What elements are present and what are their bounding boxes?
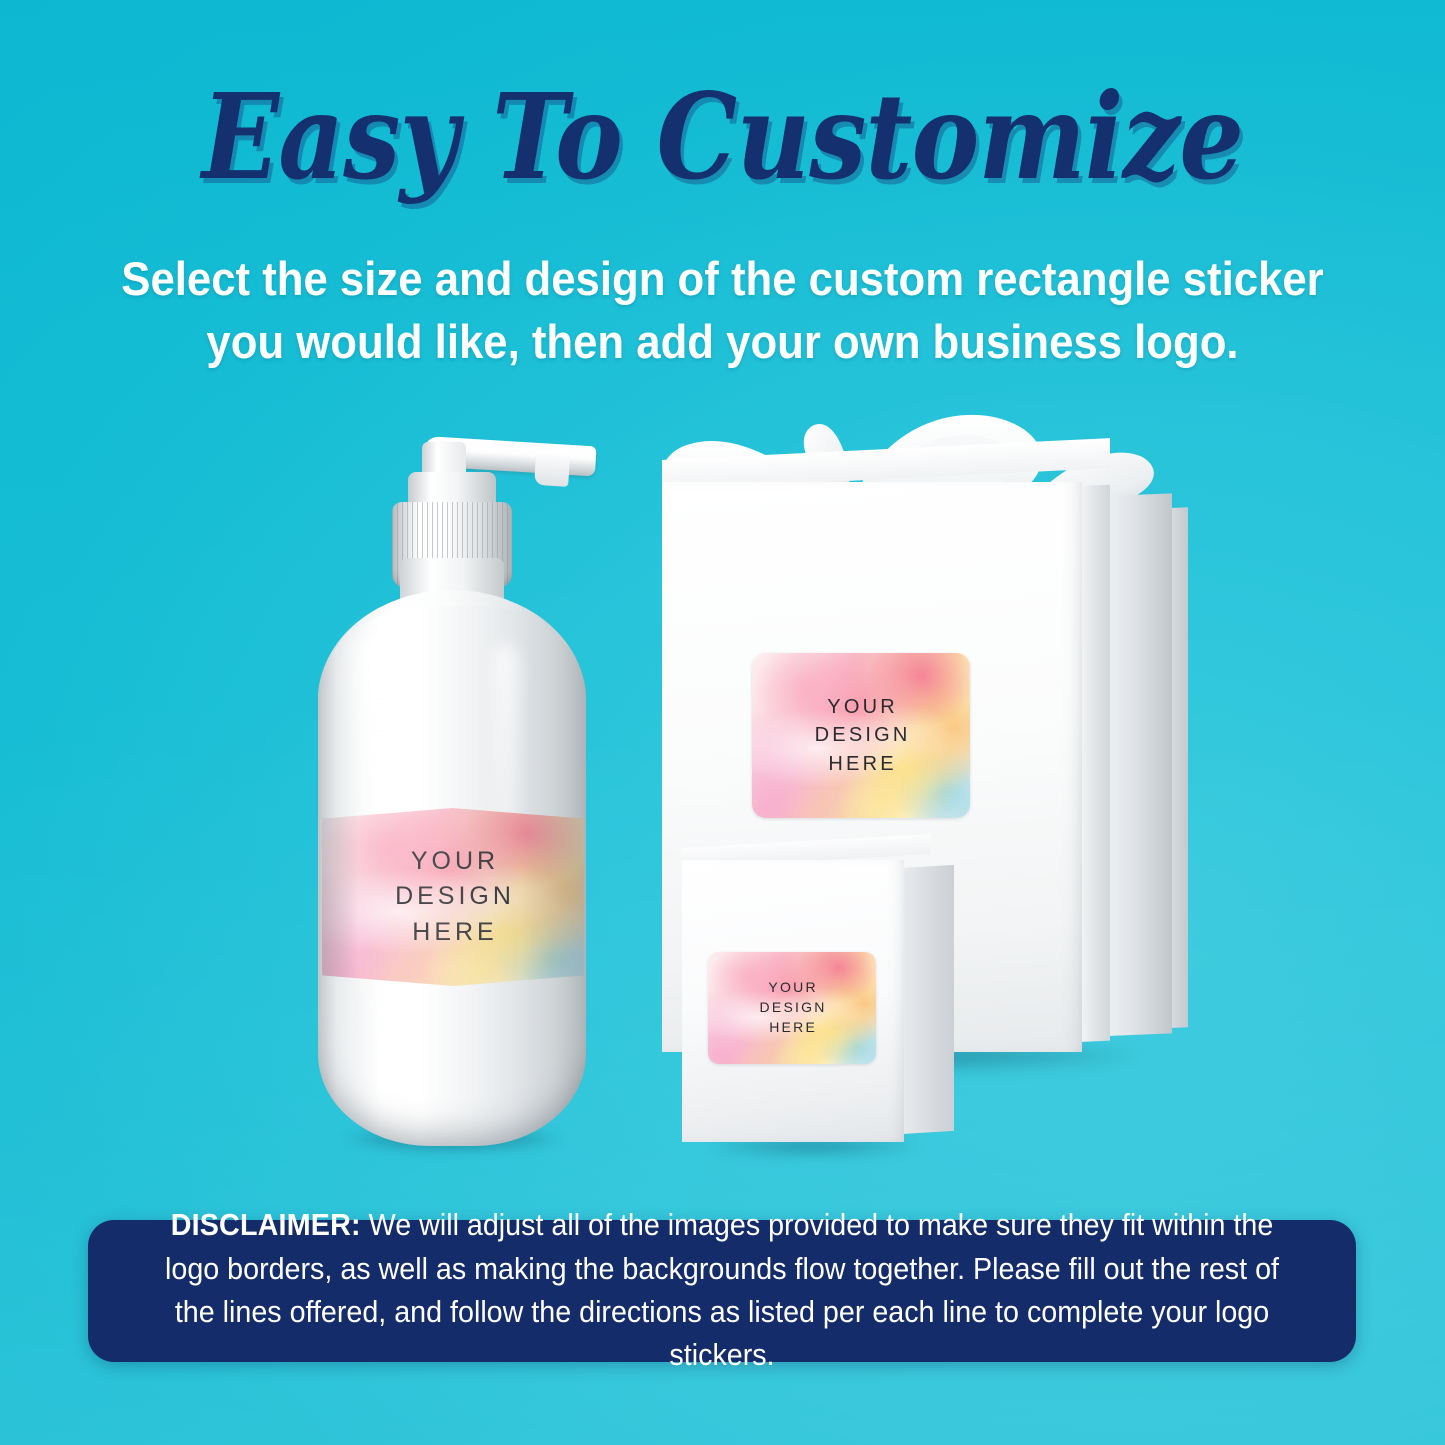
sticker-line-2: DESIGN [391,879,515,915]
gift-box-side-panel [1108,493,1172,1036]
sticker-line-3: HERE [825,750,897,778]
bottle-sticker-label[interactable]: YOUR DESIGN HERE [322,808,584,986]
sticker-line-2: DESIGN [757,998,826,1018]
pump-spout-lip [534,451,570,487]
sticker-line-2: DESIGN [811,721,910,749]
gift-box-sticker-label[interactable]: YOUR DESIGN HERE [752,653,970,818]
pump-bottle-mockup: YOUR DESIGN HERE [296,430,606,1190]
small-box-side-panel [902,865,954,1134]
sticker-placeholder-text: YOUR DESIGN HERE [752,653,970,818]
sticker-line-1: YOUR [766,978,818,998]
sticker-line-3: HERE [408,915,497,951]
page-title: Easy To Customize [101,78,1344,196]
page-subtitle: Select the size and design of the custom… [118,248,1328,373]
sticker-placeholder-text: YOUR DESIGN HERE [708,952,876,1064]
sticker-line-1: YOUR [824,693,898,721]
gift-box-far-side [1170,507,1188,1028]
disclaimer-lead: DISCLAIMER: [171,1208,361,1242]
sticker-line-3: HERE [767,1018,817,1038]
gift-box-lid-edge [1080,485,1110,1042]
product-mockup-scene: YOUR DESIGN HERE [0,400,1445,1190]
sticker-placeholder-text: YOUR DESIGN HERE [322,808,584,986]
small-box-mockup: YOUR DESIGN HERE [660,848,980,1178]
poster-canvas: Easy To Customize Select the size and de… [0,0,1445,1445]
disclaimer-text: DISCLAIMER: We will adjust all of the im… [154,1204,1290,1377]
disclaimer-banner: DISCLAIMER: We will adjust all of the im… [88,1220,1356,1362]
small-box-sticker-label[interactable]: YOUR DESIGN HERE [708,952,876,1064]
sticker-line-1: YOUR [407,844,499,880]
